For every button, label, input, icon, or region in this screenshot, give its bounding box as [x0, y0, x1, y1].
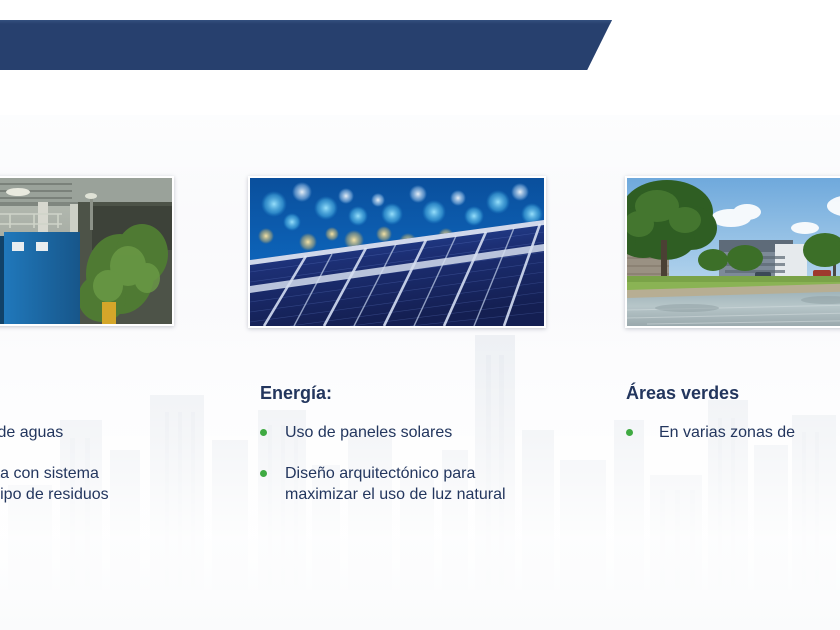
column-areas-verdes-heading: Áreas verdes: [626, 383, 840, 404]
column-areas-verdes-bullets: En varias zonas de: [626, 422, 840, 443]
column-areas-verdes: Áreas verdes En varias zonas de: [626, 383, 840, 463]
list-item: dora de aguas: [0, 422, 228, 443]
bullet-dot-icon: [260, 429, 267, 436]
top-white-strip: [0, 0, 840, 20]
list-item: Diseño arquitectónico para maximizar el …: [260, 463, 560, 505]
slide-root: rotección al medio ambiente: [0, 0, 840, 630]
photo-water-treatment-plant-image: [0, 178, 172, 324]
column-residuos: uidos dora de aguas cuenta con sistema f…: [0, 383, 228, 525]
photo-solar-panels-image: [250, 178, 544, 326]
column-residuos-heading: uidos: [0, 383, 228, 404]
bullet-dot-icon: [626, 429, 633, 436]
bullet-label: Uso de paneles solares: [285, 422, 452, 443]
title-banner: [0, 20, 612, 70]
column-energia-heading: Energía:: [260, 383, 560, 404]
photo-green-areas[interactable]: [625, 176, 840, 328]
photo-solar-panels[interactable]: [248, 176, 546, 328]
photo-green-areas-image: [627, 178, 840, 326]
column-residuos-bullets: dora de aguas cuenta con sistema ficar t…: [0, 422, 228, 505]
banner-highlight: [0, 20, 612, 24]
bullet-label: cuenta con sistema ficar tipo de residuo…: [0, 463, 109, 505]
bullet-label: dora de aguas: [0, 422, 63, 443]
list-item: cuenta con sistema ficar tipo de residuo…: [0, 463, 228, 505]
list-item: Uso de paneles solares: [260, 422, 560, 443]
photo-water-treatment-plant[interactable]: [0, 176, 174, 326]
bullet-label: En varias zonas de: [659, 422, 795, 443]
bullet-dot-icon: [260, 470, 267, 477]
bullet-label: Diseño arquitectónico para maximizar el …: [285, 463, 506, 505]
column-energia: Energía: Uso de paneles solares Diseño a…: [260, 383, 560, 525]
content-panel: uidos dora de aguas cuenta con sistema f…: [0, 115, 840, 630]
list-item: En varias zonas de: [626, 422, 840, 443]
column-energia-bullets: Uso de paneles solares Diseño arquitectó…: [260, 422, 560, 505]
